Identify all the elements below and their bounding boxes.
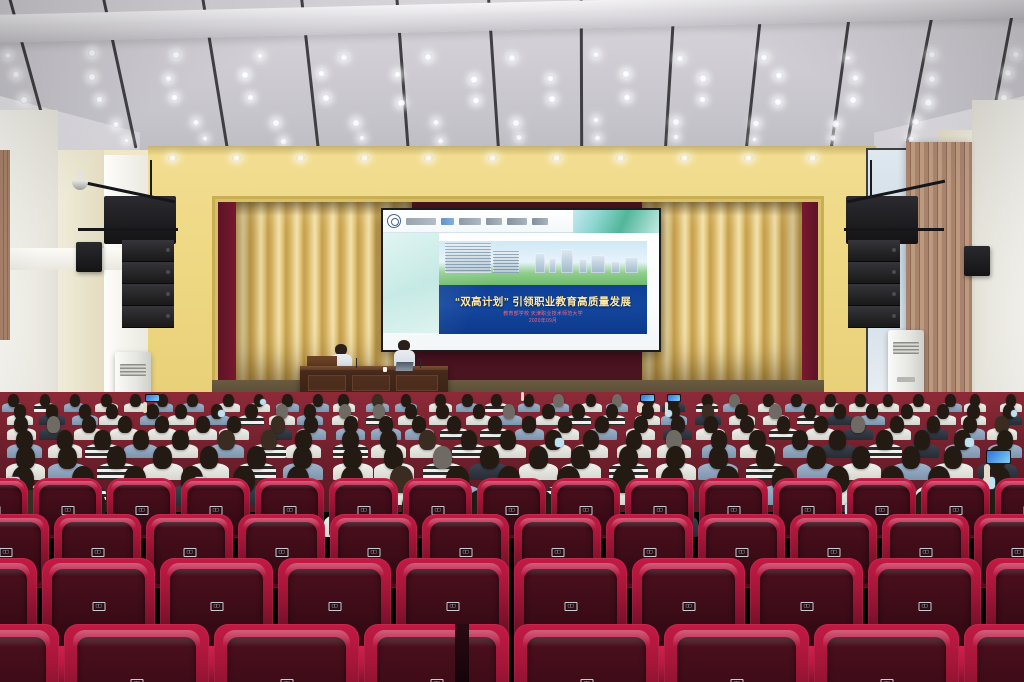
left-speaker-top-box [104, 196, 176, 244]
audience-member-head [606, 404, 618, 419]
partner-logo-2-icon [441, 218, 454, 225]
seat-headrest-highlight [0, 563, 30, 576]
seat-number-plate: □□ [210, 602, 223, 611]
seat-number-plate: □□ [682, 602, 695, 611]
audience-member-head [462, 394, 473, 407]
audience-member-head [572, 404, 584, 419]
seat-headrest-highlight [335, 518, 412, 528]
ceiling-spotlight [12, 71, 19, 78]
audience-member-head [792, 430, 808, 450]
audience-member-head [804, 404, 816, 419]
audience-member-head [187, 394, 198, 407]
audience-member-head [542, 404, 554, 419]
seat-headrest-highlight [49, 563, 148, 576]
ceiling-spotlight [594, 135, 600, 141]
seat-number-plate: □□ [827, 548, 840, 557]
ceiling-spotlight [673, 134, 679, 140]
seat-headrest-highlight [993, 563, 1024, 576]
stage-wall-shadow [148, 146, 876, 156]
raised-arm [665, 402, 668, 413]
ceiling-spotlight [830, 135, 836, 141]
seat-number-label: □□ [739, 550, 744, 555]
seat-headrest-highlight [823, 630, 951, 647]
seat-headrest-highlight [521, 563, 620, 576]
phone-screen [641, 395, 653, 401]
partner-logo-4-icon [486, 218, 502, 225]
audience-member-head [47, 416, 61, 433]
ceiling-spotlight [280, 138, 287, 145]
left-line-array-speaker [122, 240, 174, 328]
audience-member-head [529, 446, 548, 469]
audience-member-head [807, 446, 826, 469]
surveillance-camera-icon [72, 172, 88, 190]
seat-headrest-highlight [223, 630, 351, 647]
slide-header-graphic [573, 210, 659, 233]
seat-headrest-highlight [407, 481, 468, 489]
seat-number-plate: □□ [0, 548, 12, 557]
wall-downlight [232, 155, 241, 161]
seat-headrest-highlight [243, 518, 320, 528]
left-speaker-bracket-2 [78, 228, 178, 231]
audience-member-head [94, 430, 110, 450]
raised-arm [638, 402, 641, 413]
audience-member-head [70, 394, 81, 407]
seat-headrest-highlight [925, 481, 986, 489]
seat-number-plate: □□ [91, 548, 104, 557]
audience-member-head [447, 416, 461, 433]
seat-number-label: □□ [831, 550, 836, 555]
audience-member-head [153, 446, 172, 469]
ceiling-spotlight [852, 74, 860, 82]
phone-screen [987, 451, 1010, 463]
phone-screen [146, 395, 158, 401]
wall-downlight [360, 155, 369, 161]
audience-member-head [118, 416, 132, 433]
wall-downlight [424, 155, 433, 161]
seat-number-plate: □□ [875, 506, 888, 515]
audience-member-head [503, 404, 515, 419]
ceiling-strip [743, 0, 765, 169]
seat-headrest-highlight [285, 563, 384, 576]
seat-number-plate: □□ [459, 548, 472, 557]
seat-number-label: □□ [804, 604, 809, 609]
seat-headrest-highlight [185, 481, 246, 489]
seat-headrest-highlight [73, 630, 201, 647]
seat-headrest-highlight [37, 481, 98, 489]
ceiling-spotlight [257, 53, 263, 59]
ceiling-spotlight [593, 117, 599, 123]
seat-number-plate: □□ [135, 506, 148, 515]
wall-downlight [488, 155, 497, 161]
ceiling-spotlight [849, 96, 857, 104]
slide-subtitle-line2: 2020年09月 [439, 317, 647, 324]
ceiling-spotlight [760, 54, 767, 61]
laptop [396, 362, 414, 371]
ceiling-spotlight [433, 119, 440, 126]
left-pillar-mid [58, 150, 104, 430]
seat-number-label: □□ [583, 508, 588, 513]
partner-logo-1-icon [406, 218, 436, 225]
ceiling-spotlight [20, 96, 28, 104]
ceiling-spotlight [676, 55, 683, 62]
ceiling-spotlight [547, 75, 554, 82]
audience-member-head [491, 394, 502, 407]
audience-member-head [571, 446, 590, 469]
ceiling-spotlight [202, 136, 208, 142]
partner-logo-5-icon [507, 218, 527, 225]
seat-number-label: □□ [953, 508, 958, 513]
seat-headrest-highlight [519, 518, 596, 528]
wall-downlight [680, 155, 689, 161]
seat-number-plate: □□ [551, 548, 564, 557]
projection-screen: “双高计划” 引领职业教育高质量发展 教育部学校 天津职业技术师范大学 2020… [381, 208, 661, 352]
ceiling-spotlight [912, 118, 919, 125]
seat-number-label: □□ [435, 508, 440, 513]
auditorium-seat[interactable]: □□ [964, 624, 1024, 682]
seat-headrest-highlight [673, 630, 801, 647]
ceiling-spotlight [512, 119, 519, 126]
audience-member-head [825, 394, 836, 407]
audience-member-head [436, 404, 448, 419]
audience-member-head [553, 394, 564, 407]
auditorium-seat[interactable]: □□ [64, 624, 209, 682]
water-cup [383, 367, 387, 372]
seat-headrest-highlight [611, 518, 688, 528]
seat-headrest-highlight [979, 518, 1024, 528]
slide-side-panel [383, 233, 439, 333]
auditorium-seat[interactable]: □□ [814, 624, 959, 682]
slide-surface: “双高计划” 引领职业教育高质量发展 教育部学校 天津职业技术师范大学 2020… [383, 210, 659, 350]
audience-member-head [175, 404, 187, 419]
audience-member-head [913, 394, 924, 407]
university-seal-icon [387, 214, 401, 228]
audience-member-head [419, 430, 435, 450]
ceiling-spotlight [845, 55, 851, 61]
seat-headrest-highlight [703, 481, 764, 489]
right-speaker-top-box [846, 196, 918, 244]
audience-member-head [595, 416, 609, 433]
auditorium-seat[interactable]: □□ [664, 624, 809, 682]
wall-downlight [808, 155, 817, 161]
audience-seating: □□□□□□□□□□□□□□□□□□□□□□□□□□□□□□□□□□□□□□□□… [0, 392, 1024, 682]
seat-number-plate: □□ [183, 548, 196, 557]
ceiling-spotlight [752, 137, 757, 142]
slide-title: “双高计划” 引领职业教育高质量发展 [439, 294, 647, 309]
ceiling-spotlight [272, 119, 280, 127]
seat-headrest-highlight [639, 563, 738, 576]
seat-headrest-highlight [0, 630, 50, 647]
wall-downlight [616, 155, 625, 161]
audience-member-head [777, 416, 791, 433]
right-speaker-bracket-2 [844, 228, 944, 231]
audience-member-head [890, 416, 904, 433]
face-mask [965, 438, 974, 446]
ceiling-spotlight [699, 74, 707, 82]
seat-number-label: □□ [657, 508, 662, 513]
ceiling-spotlight [774, 98, 782, 106]
seat-headrest-highlight [999, 481, 1024, 489]
seat-number-plate: □□ [735, 548, 748, 557]
audience-member-head [200, 446, 219, 469]
ceiling-spotlight [165, 75, 173, 83]
seat-number-label: □□ [450, 604, 455, 609]
audience-member-head [558, 416, 572, 433]
audience-member-head [522, 416, 536, 433]
smartphone [667, 394, 681, 402]
audience-member-head [82, 416, 96, 433]
audience-member-head [586, 394, 597, 407]
left-wall-speaker [76, 242, 102, 272]
audience-member-head [130, 394, 141, 407]
right-air-conditioner [888, 330, 924, 396]
seat-number-label: □□ [3, 550, 8, 555]
left-window-blinds-icon [0, 150, 10, 340]
seat-headrest-highlight [875, 563, 974, 576]
gold-curtain-right [642, 202, 802, 396]
ceiling-spotlight [699, 96, 706, 103]
seat-number-label: □□ [213, 508, 218, 513]
ceiling-spotlight [247, 94, 254, 101]
ceiling-spotlight [397, 99, 405, 107]
seat-headrest-highlight [555, 481, 616, 489]
right-wall-speaker [964, 246, 990, 276]
seat-number-label: □□ [879, 508, 884, 513]
audience-member-head [814, 416, 828, 433]
seat-number-plate: □□ [564, 602, 577, 611]
wall-downlight [168, 155, 177, 161]
audience-member-head [461, 430, 477, 450]
audience-member-head [927, 416, 941, 433]
seat-number-label: □□ [139, 508, 144, 513]
seat-headrest-highlight [777, 481, 838, 489]
audience-member-head [756, 446, 775, 469]
partner-logo-3-icon [459, 218, 481, 225]
ceiling-spotlight [318, 70, 325, 77]
ceiling-spotlight [516, 134, 523, 141]
ceiling-spotlight [437, 138, 443, 144]
seat-headrest-highlight [523, 630, 651, 647]
ceiling-spotlight [171, 94, 178, 101]
ceiling-spotlight [88, 73, 96, 81]
audience-member-head [247, 446, 266, 469]
seat-number-label: □□ [96, 604, 101, 609]
ceiling-spotlight [548, 95, 556, 103]
ceiling-spotlight [928, 51, 935, 58]
wall-downlight [552, 155, 561, 161]
audience-member-head [58, 446, 77, 469]
seat-number-label: □□ [555, 550, 560, 555]
audience-member-head [866, 404, 878, 419]
seat-headrest-highlight [259, 481, 320, 489]
ceiling-spotlight [352, 119, 359, 126]
ceiling-spotlight [775, 72, 782, 79]
audience-member-head [433, 446, 452, 469]
audience-member-head [902, 446, 921, 469]
ceiling-spotlight [241, 71, 249, 79]
microphone-stand [356, 358, 357, 368]
seat-number-plate: □□ [446, 602, 459, 611]
ceiling-spotlight [88, 49, 95, 56]
smartphone [640, 394, 654, 402]
seat-number-label: □□ [463, 550, 468, 555]
raised-arm [143, 402, 146, 413]
seat-headrest-highlight [703, 518, 780, 528]
ceiling-spotlight [394, 71, 401, 78]
ceiling-spotlight [593, 51, 600, 58]
seat-number-plate: □□ [919, 548, 932, 557]
seat-headrest-highlight [403, 563, 502, 576]
seat-headrest-highlight [629, 481, 690, 489]
right-line-array-speaker [848, 240, 900, 328]
seat-number-label: □□ [509, 508, 514, 513]
auditorium-seat[interactable]: □□ [364, 624, 509, 682]
auditorium-seat[interactable]: □□ [514, 624, 659, 682]
seat-number-label: □□ [279, 550, 284, 555]
ceiling-spotlight [472, 97, 480, 105]
audience-member-head [829, 430, 845, 450]
microphone-stand-2 [420, 358, 421, 368]
seat-number-label: □□ [361, 508, 366, 513]
seat-headrest-highlight [0, 518, 44, 528]
ceiling-spotlight [623, 94, 630, 101]
ceiling-spotlight [113, 121, 120, 128]
seat-number-label: □□ [568, 604, 573, 609]
seat-number-label: □□ [214, 604, 219, 609]
wall-downlight [744, 155, 753, 161]
seat-headrest-highlight [427, 518, 504, 528]
seat-number-label: □□ [65, 508, 70, 513]
raised-arm [521, 392, 524, 401]
ceiling-spotlight [508, 54, 516, 62]
seat-headrest-highlight [333, 481, 394, 489]
ceiling-spotlight [172, 51, 179, 58]
slide-subtitle-line1: 教育部学校 天津职业技术师范大学 [439, 310, 647, 317]
seat-number-label: □□ [187, 550, 192, 555]
seat-number-label: □□ [95, 550, 100, 555]
slide-title-band: “双高计划” 引领职业教育高质量发展 教育部学校 天津职业技术师范大学 2020… [439, 285, 647, 334]
face-mask [1011, 410, 1018, 416]
campus-photo-band [439, 241, 647, 285]
phone-screen [668, 395, 680, 401]
seat-number-label: □□ [287, 508, 292, 513]
seat-number-plate: □□ [1011, 548, 1024, 557]
audience-member-head [488, 416, 502, 433]
ceiling-spotlight [96, 96, 103, 103]
audience-member-head [155, 416, 169, 433]
seat-number-label: □□ [371, 550, 376, 555]
seat-headrest-highlight [111, 481, 172, 489]
audience-member-head [261, 430, 277, 450]
seat-headrest-highlight [973, 630, 1024, 647]
seat-number-plate: □□ [643, 548, 656, 557]
seat-headrest-highlight [481, 481, 542, 489]
ceiling-spotlight [928, 75, 936, 83]
seat-number-label: □□ [647, 550, 652, 555]
audience-member-head [480, 446, 499, 469]
seat-headrest-highlight [0, 481, 24, 489]
audience-member-head [852, 446, 871, 469]
audience-member-head [245, 404, 257, 419]
audience-member-head [855, 394, 866, 407]
ceiling-spotlight [470, 75, 479, 84]
smartphone [986, 450, 1011, 464]
seat-number-plate: □□ [505, 506, 518, 515]
seat-number-label: □□ [686, 604, 691, 609]
seat-number-label: □□ [1015, 550, 1020, 555]
ceiling-spotlight [752, 120, 760, 128]
seat-number-plate: □□ [328, 602, 341, 611]
seat-number-label: □□ [805, 508, 810, 513]
seat-number-label: □□ [922, 604, 927, 609]
ceiling-spotlight [124, 138, 129, 143]
audience-member-head [223, 394, 234, 407]
seat-headrest-highlight [757, 563, 856, 576]
ceiling-spotlight [832, 120, 840, 128]
seat-number-plate: □□ [918, 602, 931, 611]
ceiling-spotlight [340, 54, 347, 61]
seat-number-label: □□ [731, 508, 736, 513]
audience-member-head [851, 416, 865, 433]
slide-header-bar [383, 210, 659, 233]
centre-aisle [455, 624, 469, 682]
audience-member-head [218, 430, 234, 450]
seat-headrest-highlight [373, 630, 501, 647]
ceiling-spotlight [1004, 69, 1012, 77]
smartphone [145, 394, 159, 402]
ceiling-spotlight [1012, 51, 1019, 58]
audience-member-head [876, 430, 892, 450]
ceiling-spotlight [359, 135, 365, 141]
ceiling-spotlight [5, 52, 12, 59]
audience-member-head [473, 404, 485, 419]
ceiling-spotlight [424, 53, 432, 61]
audience-member-head [901, 404, 913, 419]
auditorium-seat[interactable]: □□ [214, 624, 359, 682]
wall-downlight [296, 155, 305, 161]
ceiling-spotlight [322, 94, 330, 102]
audience-member-head [133, 430, 149, 450]
seat-number-label: □□ [332, 604, 337, 609]
seat-headrest-highlight [851, 481, 912, 489]
seat-number-plate: □□ [275, 548, 288, 557]
audience-member-head [500, 430, 516, 450]
audience-member-head [313, 394, 324, 407]
ceiling-spotlight [193, 119, 200, 126]
seat-number-label: □□ [923, 550, 928, 555]
seat-number-plate: □□ [800, 602, 813, 611]
audience-member-head [937, 404, 949, 419]
partner-logo-6-icon [532, 218, 548, 225]
auditorium-seat[interactable]: □□ [0, 624, 59, 682]
audience-member-head [944, 446, 963, 469]
face-mask [218, 410, 225, 416]
face-mask [555, 438, 564, 446]
audience-member-head [883, 394, 894, 407]
seat-headrest-highlight [167, 563, 266, 576]
audience-member-head [172, 430, 188, 450]
seat-headrest-highlight [151, 518, 228, 528]
seat-headrest-highlight [59, 518, 136, 528]
seat-number-plate: □□ [367, 548, 380, 557]
auditorium-photo: “双高计划” 引领职业教育高质量发展 教育部学校 天津职业技术师范大学 2020… [0, 0, 1024, 682]
audience-member-head [106, 404, 118, 419]
audience-member-head [524, 394, 535, 407]
ceiling-spotlight [672, 118, 679, 125]
ceiling-spotlight [622, 70, 630, 78]
seat-headrest-highlight [795, 518, 872, 528]
audience-member-head [834, 404, 846, 419]
ceiling-spotlight [924, 98, 933, 107]
